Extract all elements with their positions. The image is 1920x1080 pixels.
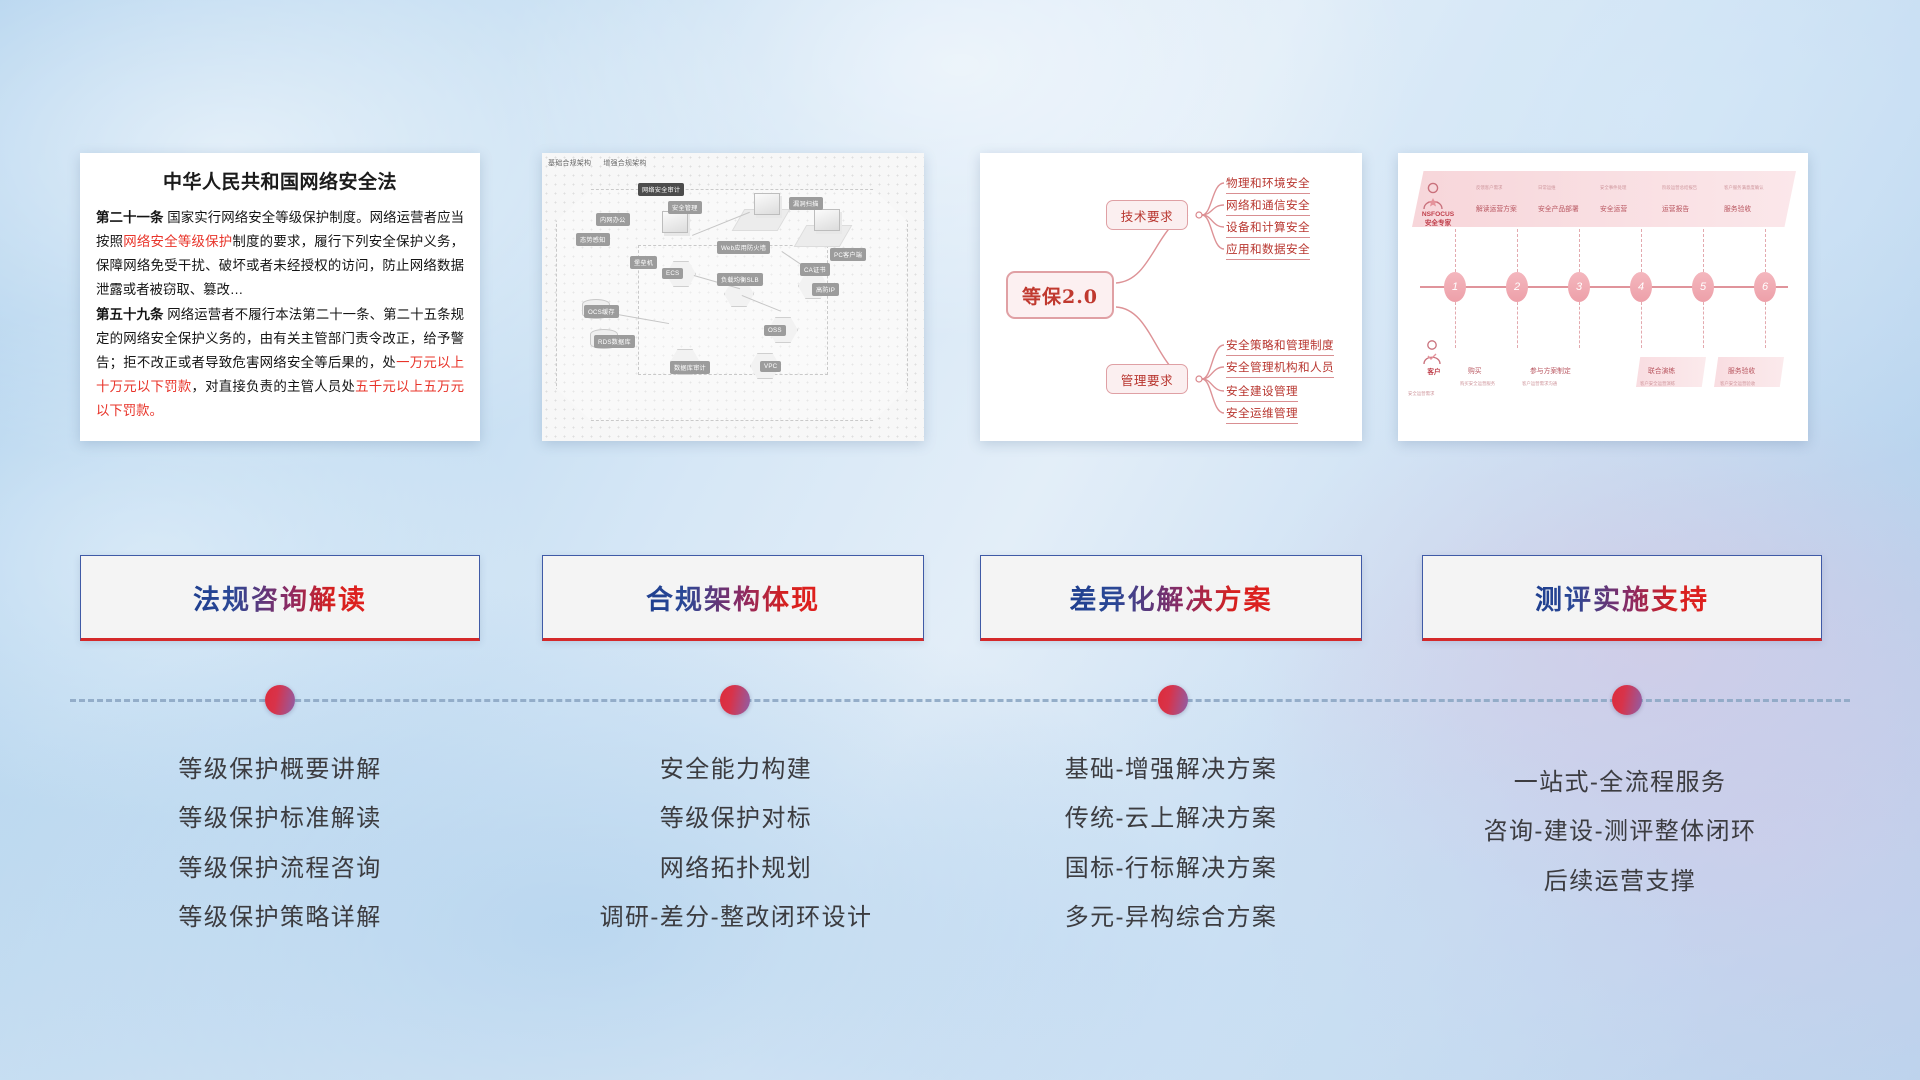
diagram-server-1: [754, 193, 780, 215]
mindmap-leaf-mgmt-1: 安全管理机构和人员: [1226, 359, 1334, 378]
banner-cell-sub: 客户服务满意度确认: [1724, 185, 1764, 191]
label-box-regulation[interactable]: 法规咨询解读: [80, 555, 480, 641]
customer-label: 客户: [1412, 369, 1456, 378]
label-text-1: 合规架构体现: [646, 578, 820, 617]
law-title: 中华人民共和国网络安全法: [96, 167, 464, 194]
mindmap-leaf-tech-0: 物理和环境安全: [1226, 175, 1310, 194]
diagram-server-2: [814, 209, 840, 231]
diagram-node-chip: OSS: [764, 325, 786, 336]
diagram-node-chip: 态势感知: [576, 233, 610, 246]
bottom-tag-sub: 购买安全运营服务: [1460, 381, 1495, 387]
brand-line-2: 安全专家: [1416, 220, 1460, 229]
detail-list-item: 一站式-全流程服务: [1400, 758, 1840, 807]
mindmap-leaf-mgmt-3: 安全运维管理: [1226, 405, 1298, 424]
detail-list-item: 等级保护概要讲解: [80, 745, 480, 794]
timeline-dot-2[interactable]: [720, 685, 750, 715]
step-connector-up: [1703, 229, 1704, 272]
timeline-step-node[interactable]: 2: [1506, 272, 1528, 302]
timeline-step-node[interactable]: 5: [1692, 272, 1714, 302]
timeline-dot-1[interactable]: [265, 685, 295, 715]
step-connector-down: [1703, 302, 1704, 348]
step-connector-up: [1455, 229, 1456, 272]
nsfocus-diagram: NSFOCUS 安全专家 解读运营方案反馈客户需求安全产品部署日常运维安全运营安…: [1398, 153, 1808, 441]
diagram-header: 基础合规架构 增强合规架构: [548, 158, 657, 168]
diagram-node-chip: RDS数据库: [594, 335, 635, 348]
banner-cell-sub: 反馈客户需求: [1476, 185, 1502, 191]
bottom-tag-title: 服务验收: [1728, 365, 1755, 375]
diagram-node-chip: 网络安全审计: [638, 183, 684, 196]
label-box-assessment[interactable]: 测评实施支持: [1422, 555, 1822, 641]
mindmap-leaf-tech-1: 网络和通信安全: [1226, 197, 1310, 216]
diagram-node-chip: 内网办公: [596, 213, 630, 226]
detail-list-item: 国标-行标解决方案: [975, 844, 1367, 893]
diagram-node-chip: OCS缓存: [584, 305, 619, 318]
mindmap-leaf-tech-2: 设备和计算安全: [1226, 219, 1310, 238]
diagram-server-3: [662, 211, 688, 233]
diagram-node-chip: 堡垒机: [630, 256, 657, 269]
timeline-dot-4[interactable]: [1612, 685, 1642, 715]
detail-list-item: 等级保护对标: [540, 794, 932, 843]
detail-list-item: 等级保护流程咨询: [80, 844, 480, 893]
diagram-node-chip: 高防IP: [812, 283, 839, 296]
banner-cell-title: 运营报告: [1662, 203, 1689, 213]
article-21-label: 第二十一条: [96, 210, 163, 225]
banner-cell-title: 安全运营: [1600, 203, 1627, 213]
timeline-step-node[interactable]: 3: [1568, 272, 1590, 302]
diagram-node-chip: PC客户端: [830, 248, 866, 261]
law-article-59: 第五十九条 网络运营者不履行本法第二十一条、第二十五条规定的网络安全保护义务的，…: [96, 303, 464, 422]
label-text-0: 法规咨询解读: [193, 578, 367, 617]
detail-list-item: 安全能力构建: [540, 745, 932, 794]
diagram-node-chip: 负载均衡SLB: [717, 273, 763, 286]
diagram-node-chip: ECS: [662, 268, 683, 279]
detail-list-item: 等级保护标准解读: [80, 794, 480, 843]
label-box-architecture[interactable]: 合规架构体现: [542, 555, 924, 641]
diagram-node-chip: 数据库审计: [670, 361, 710, 374]
detail-list-regulation: 等级保护概要讲解等级保护标准解读等级保护流程咨询等级保护策略详解: [80, 745, 480, 943]
mindmap-leaf-mgmt-0: 安全策略和管理制度: [1226, 337, 1334, 356]
nsfocus-customer-brand: 客户: [1412, 369, 1456, 378]
timeline-step-node[interactable]: 1: [1444, 272, 1466, 302]
diagram-node-chip: 安全管理: [668, 201, 702, 214]
mindmap-leaf-tech-3: 应用和数据安全: [1226, 241, 1310, 260]
detail-list-item: 网络拓扑规划: [540, 844, 932, 893]
detail-list-item: 传统-云上解决方案: [975, 794, 1367, 843]
nsfocus-top-banner: [1412, 171, 1796, 227]
detail-list-architecture: 安全能力构建等级保护对标网络拓扑规划调研-差分-整改闭环设计: [540, 745, 932, 943]
banner-cell-title: 解读运营方案: [1476, 203, 1517, 213]
step-connector-down: [1765, 302, 1766, 348]
detail-list-item: 多元-异构综合方案: [975, 893, 1367, 942]
article-21-highlight: 网络安全等级保护: [123, 234, 232, 249]
banner-cell-sub: 日常运维: [1538, 185, 1556, 191]
detail-list-item: 咨询-建设-测评整体闭环: [1400, 807, 1840, 856]
step-connector-down: [1641, 302, 1642, 348]
detail-list-item: 调研-差分-整改闭环设计: [540, 893, 932, 942]
step-connector-down: [1517, 302, 1518, 348]
step-connector-up: [1579, 229, 1580, 272]
mindmap-branch-mgmt: 管理要求: [1106, 364, 1188, 394]
detail-list-assessment: 一站式-全流程服务咨询-建设-测评整体闭环后续运营支撑: [1400, 758, 1840, 906]
mindmap-root: 等保2.0: [1006, 271, 1114, 319]
law-article-21: 第二十一条 国家实行网络安全等级保护制度。网络运营者应当按照网络安全等级保护制度…: [96, 206, 464, 301]
diagram-node-chip: Web应用防火墙: [717, 241, 770, 254]
step-connector-up: [1765, 229, 1766, 272]
card-nsfocus-timeline[interactable]: NSFOCUS 安全专家 解读运营方案反馈客户需求安全产品部署日常运维安全运营安…: [1398, 153, 1808, 441]
customer-sub: 安全运营需求: [1408, 391, 1434, 397]
timeline-dashed-line: [70, 699, 1850, 702]
detail-list-solution: 基础-增强解决方案传统-云上解决方案国标-行标解决方案多元-异构综合方案: [975, 745, 1367, 943]
article-59-text-b: ，对直接负责的主管人员处: [191, 379, 355, 394]
mindmap-branch-tech: 技术要求: [1106, 200, 1188, 230]
customer-icon: [1420, 339, 1444, 367]
card-compliance-architecture[interactable]: 基础合规架构 增强合规架构: [542, 153, 924, 441]
slide-stage: 中华人民共和国网络安全法 第二十一条 国家实行网络安全等级保护制度。网络运营者应…: [0, 0, 1920, 1080]
label-text-3: 测评实施支持: [1535, 578, 1709, 617]
expert-icon: [1420, 181, 1446, 211]
brand-line-1: NSFOCUS: [1416, 211, 1460, 220]
bottom-tag-sub: 客户运营需求沟通: [1522, 381, 1557, 387]
detail-list-item: 基础-增强解决方案: [975, 745, 1367, 794]
detail-list-item: 后续运营支撑: [1400, 857, 1840, 906]
step-connector-down: [1455, 302, 1456, 348]
label-box-solution[interactable]: 差异化解决方案: [980, 555, 1362, 641]
label-text-2: 差异化解决方案: [1070, 578, 1273, 617]
card-dengbao-mindmap[interactable]: 等保2.0 技术要求 物理和环境安全 网络和通信安全 设备和计算安全 应用和数据…: [980, 153, 1362, 441]
timeline-step-node[interactable]: 4: [1630, 272, 1652, 302]
diagram-header-0: 基础合规架构: [548, 160, 591, 167]
bottom-tag-title: 购买: [1468, 365, 1482, 375]
diagram-node-chip: CA证书: [800, 263, 830, 276]
step-connector-up: [1517, 229, 1518, 272]
detail-list-item: 等级保护策略详解: [80, 893, 480, 942]
banner-cell-title: 服务验收: [1724, 203, 1751, 213]
diagram-header-1: 增强合规架构: [603, 160, 646, 167]
bottom-tag-sub: 客户安全运营验收: [1720, 381, 1755, 387]
architecture-diagram: 基础合规架构 增强合规架构: [542, 153, 924, 441]
step-connector-up: [1641, 229, 1642, 272]
diagram-node-chip: VPC: [760, 361, 781, 372]
banner-cell-sub: 阶段运营总结报告: [1662, 185, 1697, 191]
article-59-label: 第五十九条: [96, 307, 163, 322]
card-cybersecurity-law[interactable]: 中华人民共和国网络安全法 第二十一条 国家实行网络安全等级保护制度。网络运营者应…: [80, 153, 480, 441]
mindmap: 等保2.0 技术要求 物理和环境安全 网络和通信安全 设备和计算安全 应用和数据…: [980, 153, 1362, 441]
step-connector-down: [1579, 302, 1580, 348]
nsfocus-brand: NSFOCUS 安全专家: [1416, 211, 1460, 229]
nsfocus-axis: [1420, 286, 1788, 288]
law-document: 中华人民共和国网络安全法 第二十一条 国家实行网络安全等级保护制度。网络运营者应…: [80, 153, 480, 431]
timeline-step-node[interactable]: 6: [1754, 272, 1776, 302]
bottom-tag-title: 参与方案制定: [1530, 365, 1571, 375]
diagram-node-chip: 漏洞扫描: [789, 197, 823, 210]
timeline-dot-3[interactable]: [1158, 685, 1188, 715]
bottom-tag-title: 联合演练: [1648, 365, 1675, 375]
banner-cell-sub: 安全事件处理: [1600, 185, 1626, 191]
bottom-tag-sub: 客户安全运营演练: [1640, 381, 1675, 387]
mindmap-leaf-mgmt-2: 安全建设管理: [1226, 383, 1298, 402]
banner-cell-title: 安全产品部署: [1538, 203, 1579, 213]
